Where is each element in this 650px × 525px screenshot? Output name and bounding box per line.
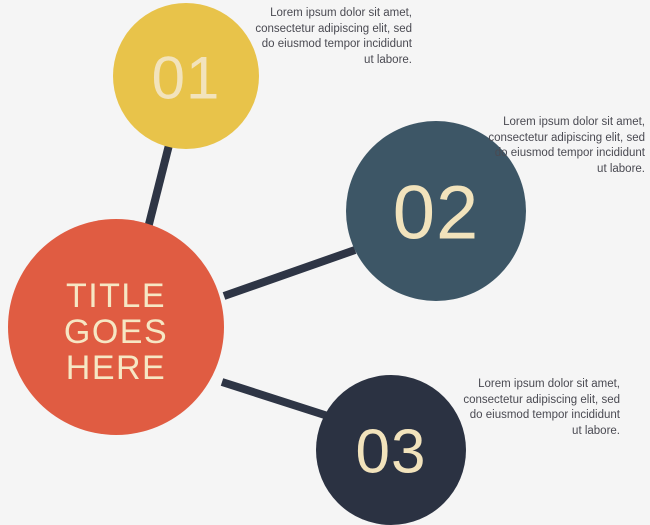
node-01-number: 01	[152, 45, 221, 112]
node-03[interactable]: 03	[316, 375, 466, 525]
connector-hub-to-01	[148, 145, 169, 228]
node-03-number: 03	[356, 418, 427, 487]
connector-hub-to-02	[224, 250, 355, 296]
title-hub-line-3: HERE	[66, 349, 166, 387]
node-03-description: Lorem ipsum dolor sit amet, consectetur …	[460, 377, 620, 439]
node-01[interactable]: 01	[113, 3, 259, 149]
diagram-canvas: 01 02 03 TITLE GOES HERE	[0, 0, 650, 525]
title-hub-line-2: GOES	[64, 313, 168, 351]
title-hub[interactable]: TITLE GOES HERE	[8, 219, 224, 435]
node-02-description: Lorem ipsum dolor sit amet, consectetur …	[487, 115, 645, 177]
node-01-description: Lorem ipsum dolor sit amet, consectetur …	[252, 6, 412, 68]
title-hub-line-1: TITLE	[66, 277, 166, 315]
infographic-diagram: 01 02 03 TITLE GOES HERE Lorem ipsum dol…	[0, 0, 650, 525]
connector-hub-to-03	[222, 382, 334, 418]
node-02-number: 02	[393, 171, 480, 256]
